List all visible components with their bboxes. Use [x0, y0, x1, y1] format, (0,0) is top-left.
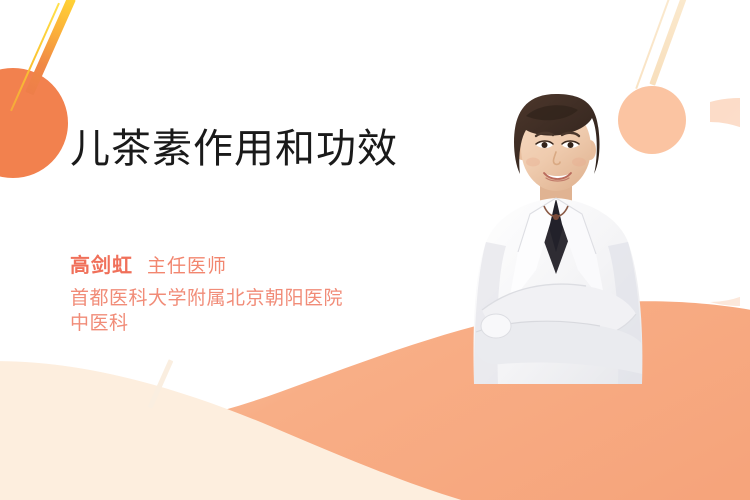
- doctor-portrait: [452, 74, 662, 384]
- decor-circle-orange-left: [0, 68, 68, 178]
- doctor-job-title: 主任医师: [147, 256, 227, 277]
- decor-stripe-pale-bottom-left: [148, 359, 174, 409]
- page-title: 儿茶素作用和功效: [70, 116, 398, 174]
- poster-canvas: 儿茶素作用和功效 高剑虹主任医师 首都医科大学附属北京朝阳医院 中医科: [0, 0, 750, 500]
- wave-shape-bottom-left: [0, 330, 490, 500]
- decor-stripe-orange-top-left: [25, 0, 76, 95]
- decor-stripe-pale-top-right-a: [649, 0, 692, 86]
- byline: 高剑虹主任医师: [70, 249, 227, 278]
- doctor-name: 高剑虹: [70, 255, 133, 277]
- hospital-affiliation: 首都医科大学附属北京朝阳医院 中医科: [70, 286, 343, 336]
- decor-stripe-yellow-top-left: [10, 3, 60, 112]
